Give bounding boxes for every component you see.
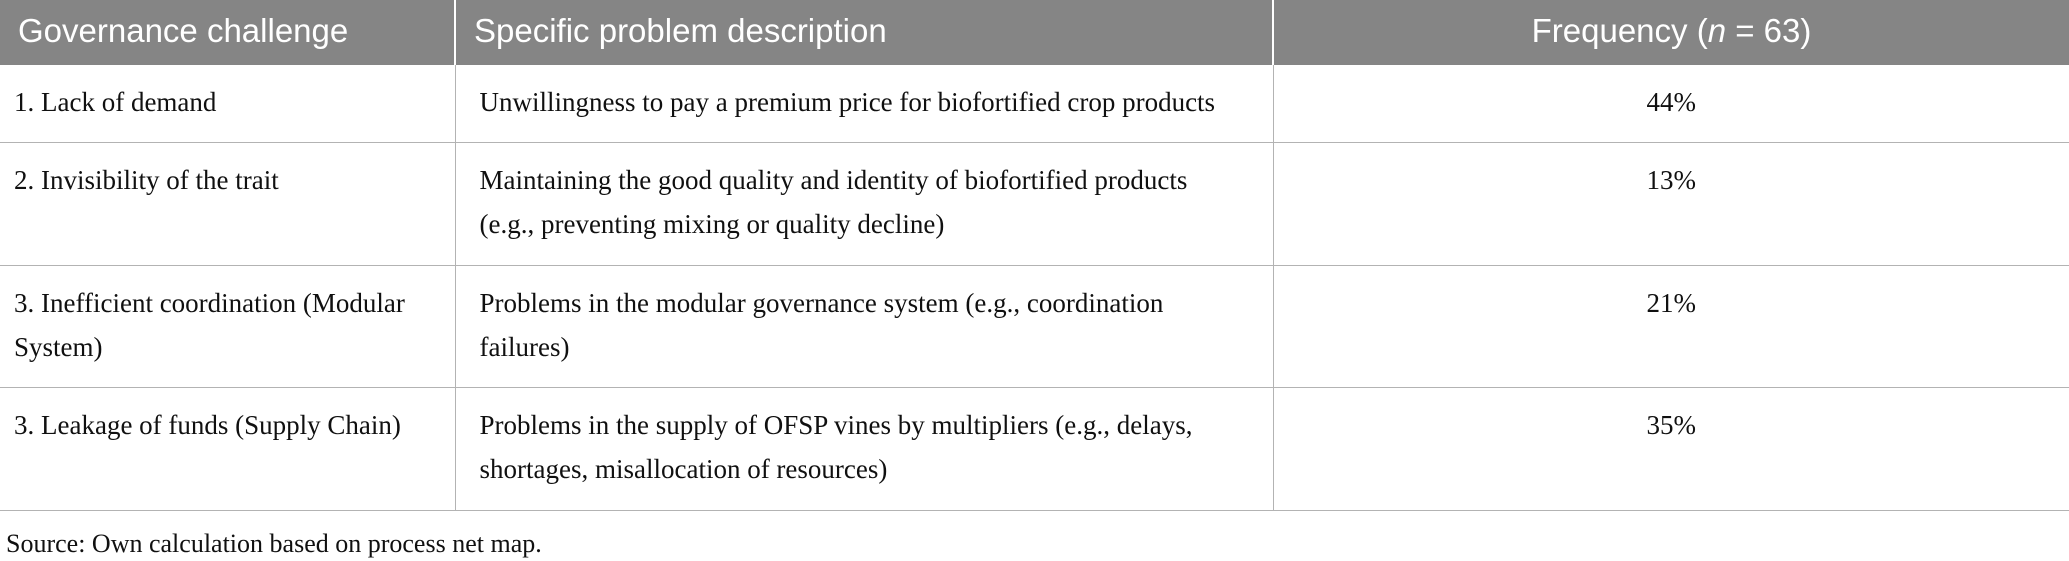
cell-challenge: 2. Invisibility of the trait bbox=[0, 143, 455, 265]
column-header-governance-challenge: Governance challenge bbox=[0, 0, 455, 65]
cell-challenge: 1. Lack of demand bbox=[0, 65, 455, 143]
column-header-specific-problem-description: Specific problem description bbox=[455, 0, 1273, 65]
cell-description: Problems in the supply of OFSP vines by … bbox=[455, 388, 1273, 510]
cell-description: Unwillingness to pay a premium price for… bbox=[455, 65, 1273, 143]
cell-description: Problems in the modular governance syste… bbox=[455, 265, 1273, 387]
cell-frequency: 21% bbox=[1273, 265, 2069, 387]
cell-challenge: 3. Inefficient coordination (Modular Sys… bbox=[0, 265, 455, 387]
table-body: 1. Lack of demand Unwillingness to pay a… bbox=[0, 65, 2069, 511]
frequency-label-prefix: Frequency ( bbox=[1532, 12, 1708, 49]
table-header: Governance challenge Specific problem de… bbox=[0, 0, 2069, 65]
source-note: Source: Own calculation based on process… bbox=[0, 511, 2069, 561]
column-header-frequency: Frequency (n = 63) bbox=[1273, 0, 2069, 65]
governance-challenges-table: Governance challenge Specific problem de… bbox=[0, 0, 2069, 511]
cell-frequency: 44% bbox=[1273, 65, 2069, 143]
table-header-row: Governance challenge Specific problem de… bbox=[0, 0, 2069, 65]
table-container: Governance challenge Specific problem de… bbox=[0, 0, 2069, 561]
table-row: 2. Invisibility of the trait Maintaining… bbox=[0, 143, 2069, 265]
cell-frequency: 13% bbox=[1273, 143, 2069, 265]
cell-frequency: 35% bbox=[1273, 388, 2069, 510]
cell-description: Maintaining the good quality and identit… bbox=[455, 143, 1273, 265]
frequency-label-n: n bbox=[1708, 12, 1726, 49]
cell-challenge: 3. Leakage of funds (Supply Chain) bbox=[0, 388, 455, 510]
table-row: 3. Leakage of funds (Supply Chain) Probl… bbox=[0, 388, 2069, 510]
frequency-label-suffix: = 63) bbox=[1726, 12, 1811, 49]
table-row: 3. Inefficient coordination (Modular Sys… bbox=[0, 265, 2069, 387]
table-row: 1. Lack of demand Unwillingness to pay a… bbox=[0, 65, 2069, 143]
